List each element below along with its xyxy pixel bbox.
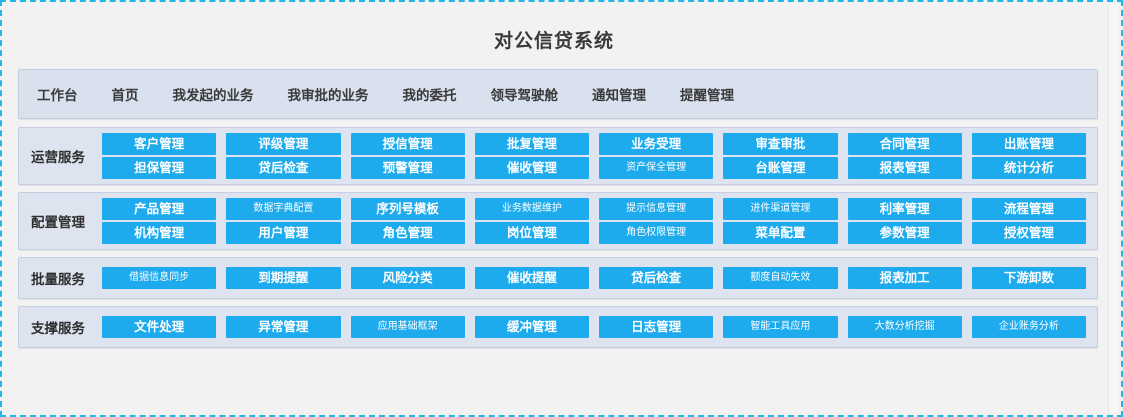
menu-button[interactable]: 岗位管理 [475,222,589,244]
menu-button[interactable]: 机构管理 [102,222,216,244]
menu-button[interactable]: 贷后检查 [226,157,340,179]
button-column: 利率管理参数管理 [843,198,967,244]
button-column: 日志管理 [594,316,718,338]
button-column: 业务数据维护岗位管理 [470,198,594,244]
menu-button[interactable]: 授权管理 [972,222,1086,244]
menu-button[interactable]: 菜单配置 [723,222,837,244]
menu-button[interactable]: 日志管理 [599,316,713,338]
page-title: 对公信贷系统 [4,4,1112,59]
section-button-grid-0: 客户管理担保管理评级管理贷后检查授信管理预警管理批复管理催收管理业务受理资产保全… [97,128,1097,184]
section-label-2: 批量服务 [19,258,97,298]
section-2: 批量服务借据信息同步到期提醒风险分类催收提醒贷后检查额度自动失效报表加工下游卸数 [18,257,1098,299]
button-column: 业务受理资产保全管理 [594,133,718,179]
button-column: 合同管理报表管理 [843,133,967,179]
menu-button[interactable]: 文件处理 [102,316,216,338]
nav-item-6[interactable]: 通知管理 [592,84,646,104]
nav-item-5[interactable]: 领导驾驶舱 [491,84,559,104]
menu-button[interactable]: 提示信息管理 [599,198,713,220]
menu-button[interactable]: 到期提醒 [226,267,340,289]
button-column: 序列号模板角色管理 [346,198,470,244]
page-scrollbar[interactable] [1108,4,1119,413]
button-column: 到期提醒 [221,267,345,289]
nav-item-4[interactable]: 我的委托 [403,84,457,104]
button-column: 客户管理担保管理 [97,133,221,179]
menu-button[interactable]: 用户管理 [226,222,340,244]
menu-button[interactable]: 风险分类 [351,267,465,289]
menu-button[interactable]: 资产保全管理 [599,157,713,179]
section-label-1: 配置管理 [19,193,97,249]
button-column: 贷后检查 [594,267,718,289]
menu-button[interactable]: 借据信息同步 [102,267,216,289]
menu-button[interactable]: 贷后检查 [599,267,713,289]
menu-button[interactable]: 报表管理 [848,157,962,179]
button-column: 批复管理催收管理 [470,133,594,179]
section-button-grid-3: 文件处理异常管理应用基础框架缓冲管理日志管理智能工具应用大数分析挖掘企业账务分析 [97,307,1097,347]
menu-button[interactable]: 产品管理 [102,198,216,220]
menu-button[interactable]: 角色管理 [351,222,465,244]
menu-button[interactable]: 评级管理 [226,133,340,155]
section-3: 支撑服务文件处理异常管理应用基础框架缓冲管理日志管理智能工具应用大数分析挖掘企业… [18,306,1098,348]
menu-button[interactable]: 企业账务分析 [972,316,1086,338]
menu-button[interactable]: 角色权限管理 [599,222,713,244]
menu-button[interactable]: 统计分析 [972,157,1086,179]
button-column: 企业账务分析 [967,316,1091,338]
section-1: 配置管理产品管理机构管理数据字典配置用户管理序列号模板角色管理业务数据维护岗位管… [18,192,1098,250]
menu-button[interactable]: 下游卸数 [972,267,1086,289]
button-column: 报表加工 [843,267,967,289]
menu-button[interactable]: 担保管理 [102,157,216,179]
menu-button[interactable]: 报表加工 [848,267,962,289]
menu-button[interactable]: 智能工具应用 [723,316,837,338]
main-nav: 工作台首页我发起的业务我审批的业务我的委托领导驾驶舱通知管理提醒管理 [18,69,1098,119]
menu-button[interactable]: 数据字典配置 [226,198,340,220]
menu-button[interactable]: 异常管理 [226,316,340,338]
menu-button[interactable]: 应用基础框架 [351,316,465,338]
menu-button[interactable]: 合同管理 [848,133,962,155]
button-column: 文件处理 [97,316,221,338]
button-column: 应用基础框架 [346,316,470,338]
menu-button[interactable]: 序列号模板 [351,198,465,220]
button-column: 智能工具应用 [718,316,842,338]
button-column: 数据字典配置用户管理 [221,198,345,244]
button-column: 产品管理机构管理 [97,198,221,244]
menu-button[interactable]: 大数分析挖掘 [848,316,962,338]
button-column: 额度自动失效 [718,267,842,289]
button-column: 评级管理贷后检查 [221,133,345,179]
menu-button[interactable]: 业务受理 [599,133,713,155]
button-column: 审查审批台账管理 [718,133,842,179]
button-column: 大数分析挖掘 [843,316,967,338]
nav-item-7[interactable]: 提醒管理 [680,84,734,104]
button-column: 出账管理统计分析 [967,133,1091,179]
menu-button[interactable]: 进件渠道管理 [723,198,837,220]
nav-item-0[interactable]: 工作台 [37,84,78,104]
section-button-grid-1: 产品管理机构管理数据字典配置用户管理序列号模板角色管理业务数据维护岗位管理提示信… [97,193,1097,249]
button-column: 缓冲管理 [470,316,594,338]
button-column: 授信管理预警管理 [346,133,470,179]
menu-button[interactable]: 审查审批 [723,133,837,155]
button-column: 借据信息同步 [97,267,221,289]
button-column: 异常管理 [221,316,345,338]
app-page: 对公信贷系统 工作台首页我发起的业务我审批的业务我的委托领导驾驶舱通知管理提醒管… [4,4,1112,413]
menu-button[interactable]: 批复管理 [475,133,589,155]
section-button-grid-2: 借据信息同步到期提醒风险分类催收提醒贷后检查额度自动失效报表加工下游卸数 [97,258,1097,298]
button-column: 提示信息管理角色权限管理 [594,198,718,244]
menu-button[interactable]: 授信管理 [351,133,465,155]
button-column: 下游卸数 [967,267,1091,289]
section-label-3: 支撑服务 [19,307,97,347]
button-column: 进件渠道管理菜单配置 [718,198,842,244]
nav-item-2[interactable]: 我发起的业务 [173,84,254,104]
section-label-0: 运营服务 [19,128,97,184]
menu-button[interactable]: 利率管理 [848,198,962,220]
menu-button[interactable]: 业务数据维护 [475,198,589,220]
menu-button[interactable]: 催收管理 [475,157,589,179]
menu-button[interactable]: 台账管理 [723,157,837,179]
menu-button[interactable]: 催收提醒 [475,267,589,289]
nav-item-3[interactable]: 我审批的业务 [288,84,369,104]
button-column: 风险分类 [346,267,470,289]
nav-item-1[interactable]: 首页 [112,84,139,104]
menu-button[interactable]: 额度自动失效 [723,267,837,289]
menu-button[interactable]: 出账管理 [972,133,1086,155]
section-0: 运营服务客户管理担保管理评级管理贷后检查授信管理预警管理批复管理催收管理业务受理… [18,127,1098,185]
button-column: 催收提醒 [470,267,594,289]
screenshot-root: 对公信贷系统 工作台首页我发起的业务我审批的业务我的委托领导驾驶舱通知管理提醒管… [0,0,1123,417]
menu-button[interactable]: 客户管理 [102,133,216,155]
menu-button[interactable]: 参数管理 [848,222,962,244]
button-column: 流程管理授权管理 [967,198,1091,244]
menu-button[interactable]: 预警管理 [351,157,465,179]
menu-button[interactable]: 流程管理 [972,198,1086,220]
service-sections: 运营服务客户管理担保管理评级管理贷后检查授信管理预警管理批复管理催收管理业务受理… [4,127,1112,348]
menu-button[interactable]: 缓冲管理 [475,316,589,338]
